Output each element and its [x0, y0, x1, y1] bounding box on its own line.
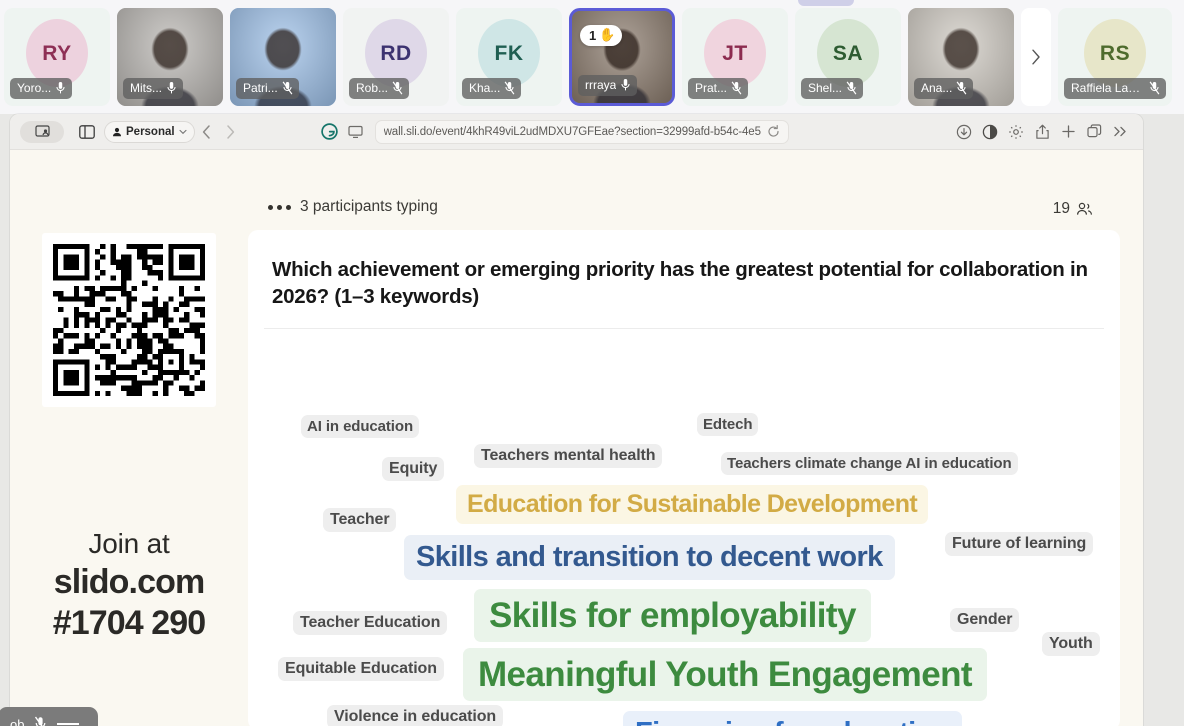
- participant-counter: 19: [1053, 200, 1093, 218]
- hand-icon: ✋: [599, 27, 615, 43]
- profile-selector[interactable]: Personal: [104, 121, 195, 143]
- mic-muted-icon: [731, 81, 742, 95]
- url-text: wall.sli.do/event/4khR49viL2udMDXU7GFEae…: [384, 126, 761, 138]
- avatar-initials: RD: [380, 42, 411, 66]
- participant-name: Raffiela Lae San...: [1071, 81, 1145, 95]
- screen: RY Yoro... Mits... Patri... RD Rob... FK…: [0, 0, 1184, 726]
- participant-name: Kha...: [469, 81, 500, 95]
- video-tile-shel[interactable]: SA Shel...: [795, 8, 901, 106]
- forward-button[interactable]: [219, 125, 243, 139]
- join-instructions: Join at slido.com #1704 290: [18, 528, 240, 643]
- participant-name-badge: Rob...: [349, 78, 409, 99]
- participant-name: Patri...: [243, 81, 278, 95]
- video-tile-ana[interactable]: Ana...: [908, 8, 1014, 106]
- typing-status: 3 participants typing: [268, 198, 438, 216]
- participant-name-badge: Raffiela Lae San...: [1064, 78, 1166, 99]
- reload-icon: [767, 125, 780, 138]
- browser-tab-nub: [798, 0, 854, 6]
- mic-icon: [55, 81, 66, 95]
- screen-share-active-icon[interactable]: [20, 121, 64, 143]
- avatar-initials: JT: [722, 42, 748, 66]
- word-cloud: AI in educationEdtechTeachers mental hea…: [248, 329, 1120, 726]
- word-cloud-item[interactable]: Gender: [950, 608, 1019, 632]
- meeting-label: ob: [10, 717, 24, 726]
- browser-window: Personal: [10, 114, 1143, 726]
- meeting-control-bar[interactable]: ob: [0, 707, 98, 726]
- video-tile-mits[interactable]: Mits...: [117, 8, 223, 106]
- word-cloud-item[interactable]: Edtech: [697, 413, 758, 436]
- strip-next-button[interactable]: [1021, 8, 1051, 106]
- word-cloud-item[interactable]: Equitable Education: [278, 657, 444, 681]
- join-code: #1704 290: [18, 604, 240, 643]
- mic-muted-icon: [956, 81, 967, 95]
- mic-muted-icon: [392, 81, 403, 95]
- address-bar[interactable]: wall.sli.do/event/4khR49viL2udMDXU7GFEae…: [375, 120, 789, 144]
- video-tile-rrraya[interactable]: 1 ✋ rrraya: [569, 8, 675, 106]
- chevron-down-icon: [179, 129, 187, 135]
- participant-name-badge: Kha...: [462, 78, 521, 99]
- screen-icon[interactable]: [343, 121, 369, 143]
- new-tab-plus-icon[interactable]: [1055, 121, 1081, 143]
- slido-wall-page: 3 participants typing 19 Join at slido.c…: [10, 150, 1143, 726]
- participant-name-badge: Yoro...: [10, 78, 72, 99]
- tab-copy-icon[interactable]: [1081, 121, 1107, 143]
- participant-name: Mits...: [130, 81, 162, 95]
- mic-muted-icon: [282, 81, 293, 95]
- back-button[interactable]: [195, 125, 219, 139]
- mic-muted-icon[interactable]: [34, 716, 47, 726]
- participant-name-badge: Shel...: [801, 78, 863, 99]
- word-cloud-item[interactable]: Equity: [382, 457, 444, 481]
- browser-toolbar: Personal: [10, 114, 1143, 150]
- video-tile-rob[interactable]: RD Rob...: [343, 8, 449, 106]
- avatar-initials: SA: [833, 42, 863, 66]
- mic-muted-icon: [504, 81, 515, 95]
- participant-name-badge: Mits...: [123, 78, 183, 99]
- video-tile-raffielalaesan[interactable]: RS Raffiela Lae San...: [1058, 8, 1172, 106]
- participant-name-badge: Prat...: [688, 78, 748, 99]
- mic-muted-icon: [1149, 81, 1160, 95]
- share-icon[interactable]: [1029, 121, 1055, 143]
- word-cloud-item[interactable]: Skills for employability: [474, 589, 871, 642]
- join-line1: Join at: [18, 528, 240, 560]
- word-cloud-item[interactable]: Financing for education: [623, 711, 962, 726]
- profile-label: Personal: [126, 126, 175, 138]
- participant-name-badge: Patri...: [236, 78, 299, 99]
- mic-icon: [620, 78, 631, 92]
- word-cloud-item[interactable]: Violence in education: [327, 705, 503, 726]
- participant-name: Rob...: [356, 81, 388, 95]
- participant-name: Yoro...: [17, 81, 51, 95]
- download-icon[interactable]: [951, 121, 977, 143]
- sidebar-toggle-icon[interactable]: [74, 121, 100, 143]
- mic-icon: [166, 81, 177, 95]
- raised-hand-badge: 1 ✋: [580, 25, 622, 46]
- reader-contrast-icon[interactable]: [977, 121, 1003, 143]
- mic-muted-icon: [846, 81, 857, 95]
- word-cloud-item[interactable]: Teachers mental health: [474, 444, 662, 468]
- video-tile-kha[interactable]: FK Kha...: [456, 8, 562, 106]
- video-tile-prat[interactable]: JT Prat...: [682, 8, 788, 106]
- raised-hand-count: 1: [589, 28, 596, 43]
- extensions-gear-icon[interactable]: [1003, 121, 1029, 143]
- person-icon: [112, 127, 122, 137]
- avatar-initials: FK: [495, 42, 524, 66]
- typing-dots-icon: [268, 205, 291, 210]
- participant-name: Ana...: [921, 81, 952, 95]
- poll-card: Which achievement or emerging priority h…: [248, 230, 1120, 726]
- page-title: Which achievement or emerging priority h…: [248, 230, 1120, 311]
- word-cloud-item[interactable]: Youth: [1042, 632, 1100, 656]
- video-tile-patri[interactable]: Patri...: [230, 8, 336, 106]
- word-cloud-item[interactable]: AI in education: [301, 415, 419, 438]
- participant-name-badge: Ana...: [914, 78, 973, 99]
- people-icon: [1076, 202, 1093, 216]
- avatar-initials: RY: [42, 42, 71, 66]
- participant-count: 19: [1053, 200, 1070, 218]
- participant-name: Shel...: [808, 81, 842, 95]
- word-cloud-item[interactable]: Future of learning: [945, 532, 1093, 556]
- qr-code-image: [53, 244, 205, 396]
- word-cloud-item[interactable]: Teachers climate change AI in education: [721, 452, 1018, 475]
- avatar-initials: RS: [1100, 42, 1130, 66]
- video-participant-strip: RY Yoro... Mits... Patri... RD Rob... FK…: [0, 0, 1184, 114]
- typing-status-label: 3 participants typing: [300, 198, 438, 216]
- qr-code-block: [42, 233, 216, 407]
- word-cloud-item[interactable]: Skills and transition to decent work: [404, 535, 895, 580]
- word-cloud-item[interactable]: Teacher: [323, 508, 396, 532]
- grammarly-icon[interactable]: [317, 121, 343, 143]
- participant-name: Prat...: [695, 81, 727, 95]
- word-cloud-item[interactable]: Education for Sustainable Development: [456, 485, 928, 524]
- word-cloud-item[interactable]: Meaningful Youth Engagement: [463, 648, 987, 701]
- video-tile-yoro[interactable]: RY Yoro...: [4, 8, 110, 106]
- join-domain: slido.com: [18, 563, 240, 602]
- word-cloud-item[interactable]: Teacher Education: [293, 611, 447, 635]
- divider: [57, 723, 79, 725]
- participant-name: rrraya: [585, 78, 616, 92]
- chevron-right-icon: [1031, 49, 1041, 65]
- more-chevrons-icon[interactable]: [1107, 121, 1133, 143]
- participant-name-badge: rrraya: [578, 75, 637, 96]
